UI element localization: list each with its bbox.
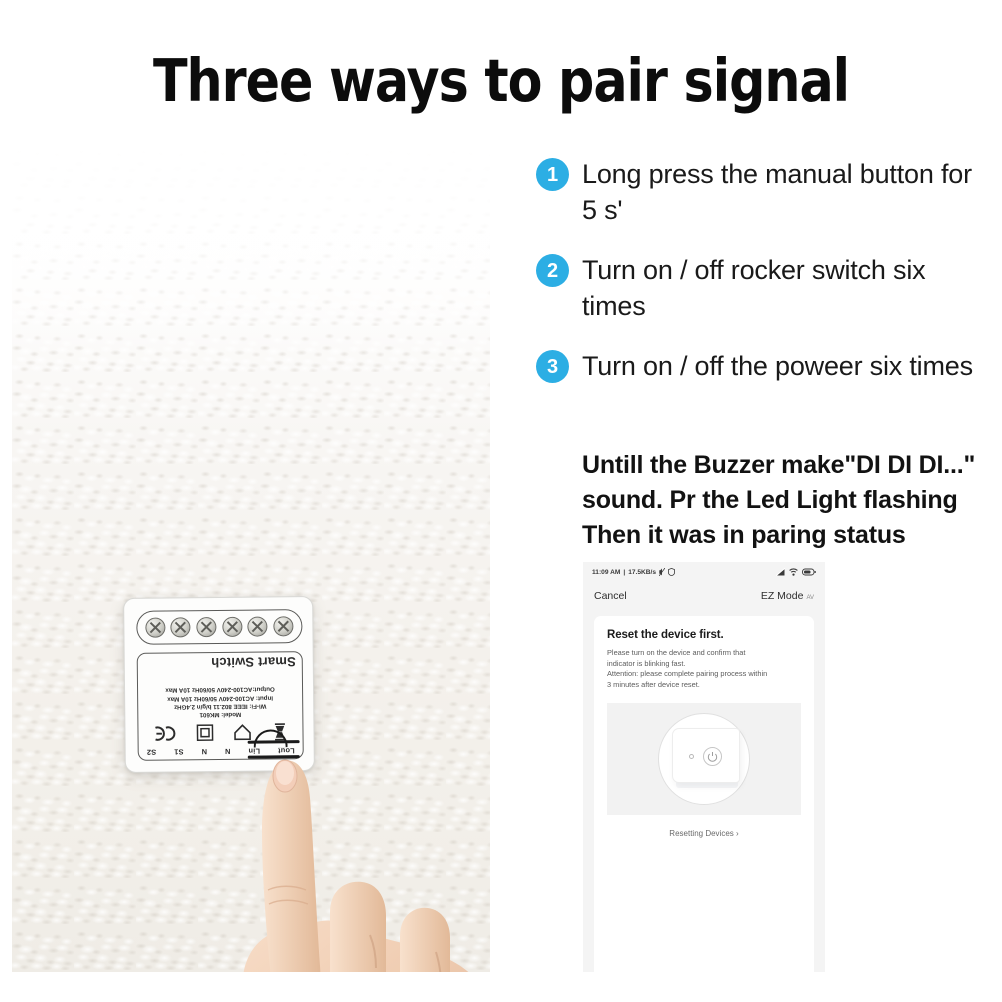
pairing-note: Untill the Buzzer make"DI DI DI..." soun…: [582, 448, 982, 553]
signal-icon: [776, 568, 785, 576]
resetting-devices-label: Resetting Devices: [669, 829, 733, 838]
terminal-screw: [171, 617, 191, 637]
step-badge: 2: [536, 254, 569, 287]
ez-mode-selector[interactable]: EZ Mode AV: [761, 590, 814, 602]
card-title: Reset the device first.: [607, 629, 801, 641]
ez-mode-label: EZ Mode: [761, 590, 804, 602]
terminal-screw: [273, 616, 293, 636]
wifi-icon: [789, 568, 798, 576]
terminal-screw: [222, 617, 242, 637]
phone-mockup: 11:09 AM | 17.5KB/s: [583, 562, 825, 972]
battery-icon: [802, 568, 816, 576]
illustration-circle: [658, 713, 750, 805]
pin-label: N: [201, 747, 207, 756]
pin-label: S2: [147, 748, 157, 757]
status-time: 11:09 AM: [592, 569, 620, 576]
step-badge: 3: [536, 350, 569, 383]
status-bar-right: [776, 568, 816, 576]
hand-pressing-switch: [224, 740, 490, 972]
spec-line: Model: MK601: [143, 709, 297, 719]
status-data-rate: 17.5KB/s: [628, 569, 656, 576]
cancel-button[interactable]: Cancel: [594, 590, 627, 602]
page-root: Three ways to pair signal Lout Lin N N: [0, 0, 1002, 1002]
spec-line: Wi-Fi: IEEE 802.11 b/g/n 2.4GHz: [143, 701, 297, 711]
card-body-line: 3 minutes after device reset.: [607, 680, 801, 691]
ez-mode-superscript: AV: [806, 595, 814, 601]
spec-line: Input: AC100-240V 50/60Hz 10A Max: [143, 693, 297, 703]
status-bar-left: 11:09 AM | 17.5KB/s: [592, 568, 675, 576]
step-item-2: 2 Turn on / off rocker switch six times: [536, 252, 988, 324]
step-item-1: 1 Long press the manual button for 5 s': [536, 156, 988, 228]
phone-status-bar: 11:09 AM | 17.5KB/s: [583, 562, 825, 582]
device-illustration: [607, 703, 801, 815]
reset-device-card: Reset the device first. Please turn on t…: [594, 616, 814, 972]
chevron-right-icon: ›: [736, 829, 739, 838]
terminal-screw: [248, 616, 268, 636]
mute-icon: [659, 568, 665, 576]
product-photo: Lout Lin N N S1 S2: [12, 142, 490, 972]
terminal-strip: [136, 609, 302, 645]
step-text: Turn on / off rocker switch six times: [582, 252, 988, 324]
step-text: Turn on / off the poweer six times: [582, 348, 973, 384]
step-item-3: 3 Turn on / off the poweer six times: [536, 348, 988, 384]
card-body-line: indicator is blinking fast.: [607, 659, 801, 670]
ce-mark-icon: [154, 725, 176, 741]
card-body: Please turn on the device and confirm th…: [607, 648, 801, 690]
phone-nav-bar: Cancel EZ Mode AV: [583, 582, 825, 610]
steps-list: 1 Long press the manual button for 5 s' …: [536, 156, 988, 408]
device-specs: Model: MK601 Wi-Fi: IEEE 802.11 b/g/n 2.…: [143, 684, 297, 718]
spec-line: Output:AC100-240V 50/60Hz 10A Max: [143, 684, 297, 694]
step-badge: 1: [536, 158, 569, 191]
pin-label: S1: [174, 747, 184, 756]
card-body-line: Please turn on the device and confirm th…: [607, 648, 801, 659]
terminal-screw: [145, 618, 165, 638]
step-text: Long press the manual button for 5 s': [582, 156, 988, 228]
status-separator: |: [623, 569, 625, 576]
terminal-screw: [196, 617, 216, 637]
card-body-line: Attention: please complete pairing proce…: [607, 669, 801, 680]
shield-icon: [668, 568, 675, 576]
resetting-devices-link[interactable]: Resetting Devices ›: [607, 829, 801, 838]
square-class2-icon: [196, 725, 213, 742]
page-title: Three ways to pair signal: [70, 46, 932, 115]
device-brand-label: Smart Switch: [211, 654, 296, 670]
